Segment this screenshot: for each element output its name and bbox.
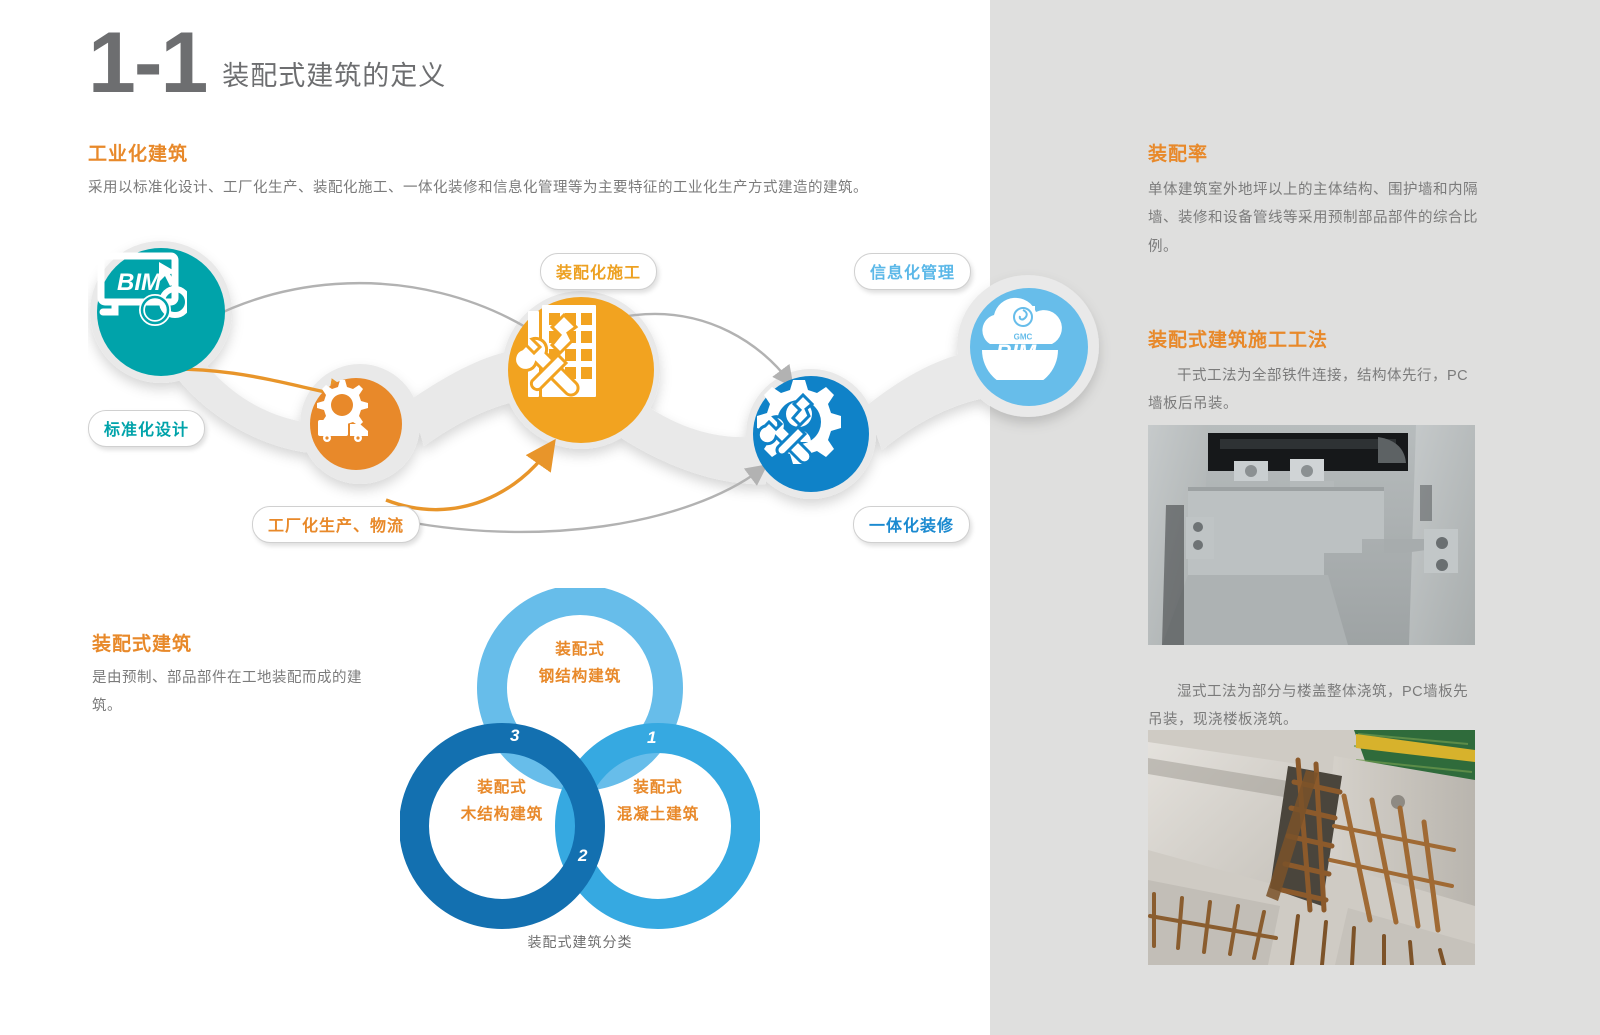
prefab-classification-venn: 装配式 钢结构建筑 装配式 混凝土建筑 装配式 木结构建筑 1 2 3 (400, 588, 760, 968)
venn-label-timber-line2: 木结构建筑 (418, 801, 586, 828)
flow-label-standard-design[interactable]: 标准化设计 (88, 410, 205, 447)
poster-page: 1-1 装配式建筑的定义 工业化建筑 采用以标准化设计、工厂化生产、装配化施工、… (0, 0, 1600, 1035)
heading-prefab-building: 装配式建筑 (92, 629, 192, 656)
flow-label-factory-production[interactable]: 工厂化生产、物流 (252, 506, 420, 543)
photo-rebar-cast-in-place (1148, 730, 1475, 965)
flow-label-information-management[interactable]: 信息化管理 (854, 253, 971, 290)
venn-label-concrete-line2: 混凝土建筑 (574, 801, 742, 828)
paragraph-dry-method: 干式工法为全部铁件连接，结构体先行，PC墙板后吊装。 (1148, 362, 1482, 419)
page-title: 装配式建筑的定义 (222, 54, 446, 93)
venn-caption: 装配式建筑分类 (400, 932, 760, 952)
gmc-logo-icon: GMC (1011, 306, 1035, 342)
venn-label-steel-line1: 装配式 (496, 636, 664, 663)
venn-label-timber-line1: 装配式 (418, 774, 586, 801)
venn-label-concrete-line1: 装配式 (574, 774, 742, 801)
paragraph-wet-method: 湿式工法为部分与楼盖整体浇筑，PC墙板先吊装，现浇楼板浇筑。 (1148, 678, 1482, 735)
heading-assembly-rate: 装配率 (1148, 139, 1208, 166)
venn-label-concrete: 装配式 混凝土建筑 (574, 774, 742, 828)
gear-truck-icon (310, 378, 380, 444)
venn-number-3: 3 (510, 726, 519, 746)
svg-text:BIM: BIM (996, 340, 1037, 365)
photo-pc-wall-panel-connection (1148, 425, 1475, 645)
page-header: 1-1 装配式建筑的定义 (88, 28, 446, 99)
venn-number-2: 2 (578, 846, 587, 866)
heading-industrial-building: 工业化建筑 (88, 139, 188, 166)
svg-text:BIM: BIM (117, 269, 162, 296)
cloud-bim-icon: GMC BIM (970, 288, 1070, 380)
flow-node-standard-design[interactable]: BIM (97, 248, 225, 376)
flow-label-prefab-construction[interactable]: 装配化施工 (540, 253, 657, 290)
venn-label-steel-line2: 钢结构建筑 (496, 663, 664, 690)
flow-label-integrated-decoration[interactable]: 一体化装修 (853, 506, 970, 543)
bim-monitor-icon: BIM (97, 248, 187, 328)
building-tools-icon (508, 297, 620, 409)
gear-tools-icon (753, 376, 845, 468)
flow-node-prefab-construction[interactable] (508, 297, 654, 443)
flow-node-information-management[interactable]: GMC BIM (970, 288, 1088, 406)
venn-number-1: 1 (647, 728, 656, 748)
heading-construction-method: 装配式建筑施工工法 (1148, 325, 1328, 352)
section-number: 1-1 (88, 28, 206, 99)
paragraph-assembly-rate: 单体建筑室外地坪以上的主体结构、围护墙和内隔墙、装修和设备管线等采用预制部品部件… (1148, 176, 1482, 261)
venn-label-timber: 装配式 木结构建筑 (418, 774, 586, 828)
venn-label-steel: 装配式 钢结构建筑 (496, 636, 664, 690)
paragraph-industrial-building: 采用以标准化设计、工厂化生产、装配化施工、一体化装修和信息化管理等为主要特征的工… (88, 174, 918, 202)
industrialization-flow-diagram: BIM (88, 228, 1128, 548)
flow-node-integrated-decoration[interactable] (753, 376, 869, 492)
flow-node-factory-production[interactable] (310, 378, 402, 470)
paragraph-prefab-building: 是由预制、部品部件在工地装配而成的建筑。 (92, 664, 382, 721)
